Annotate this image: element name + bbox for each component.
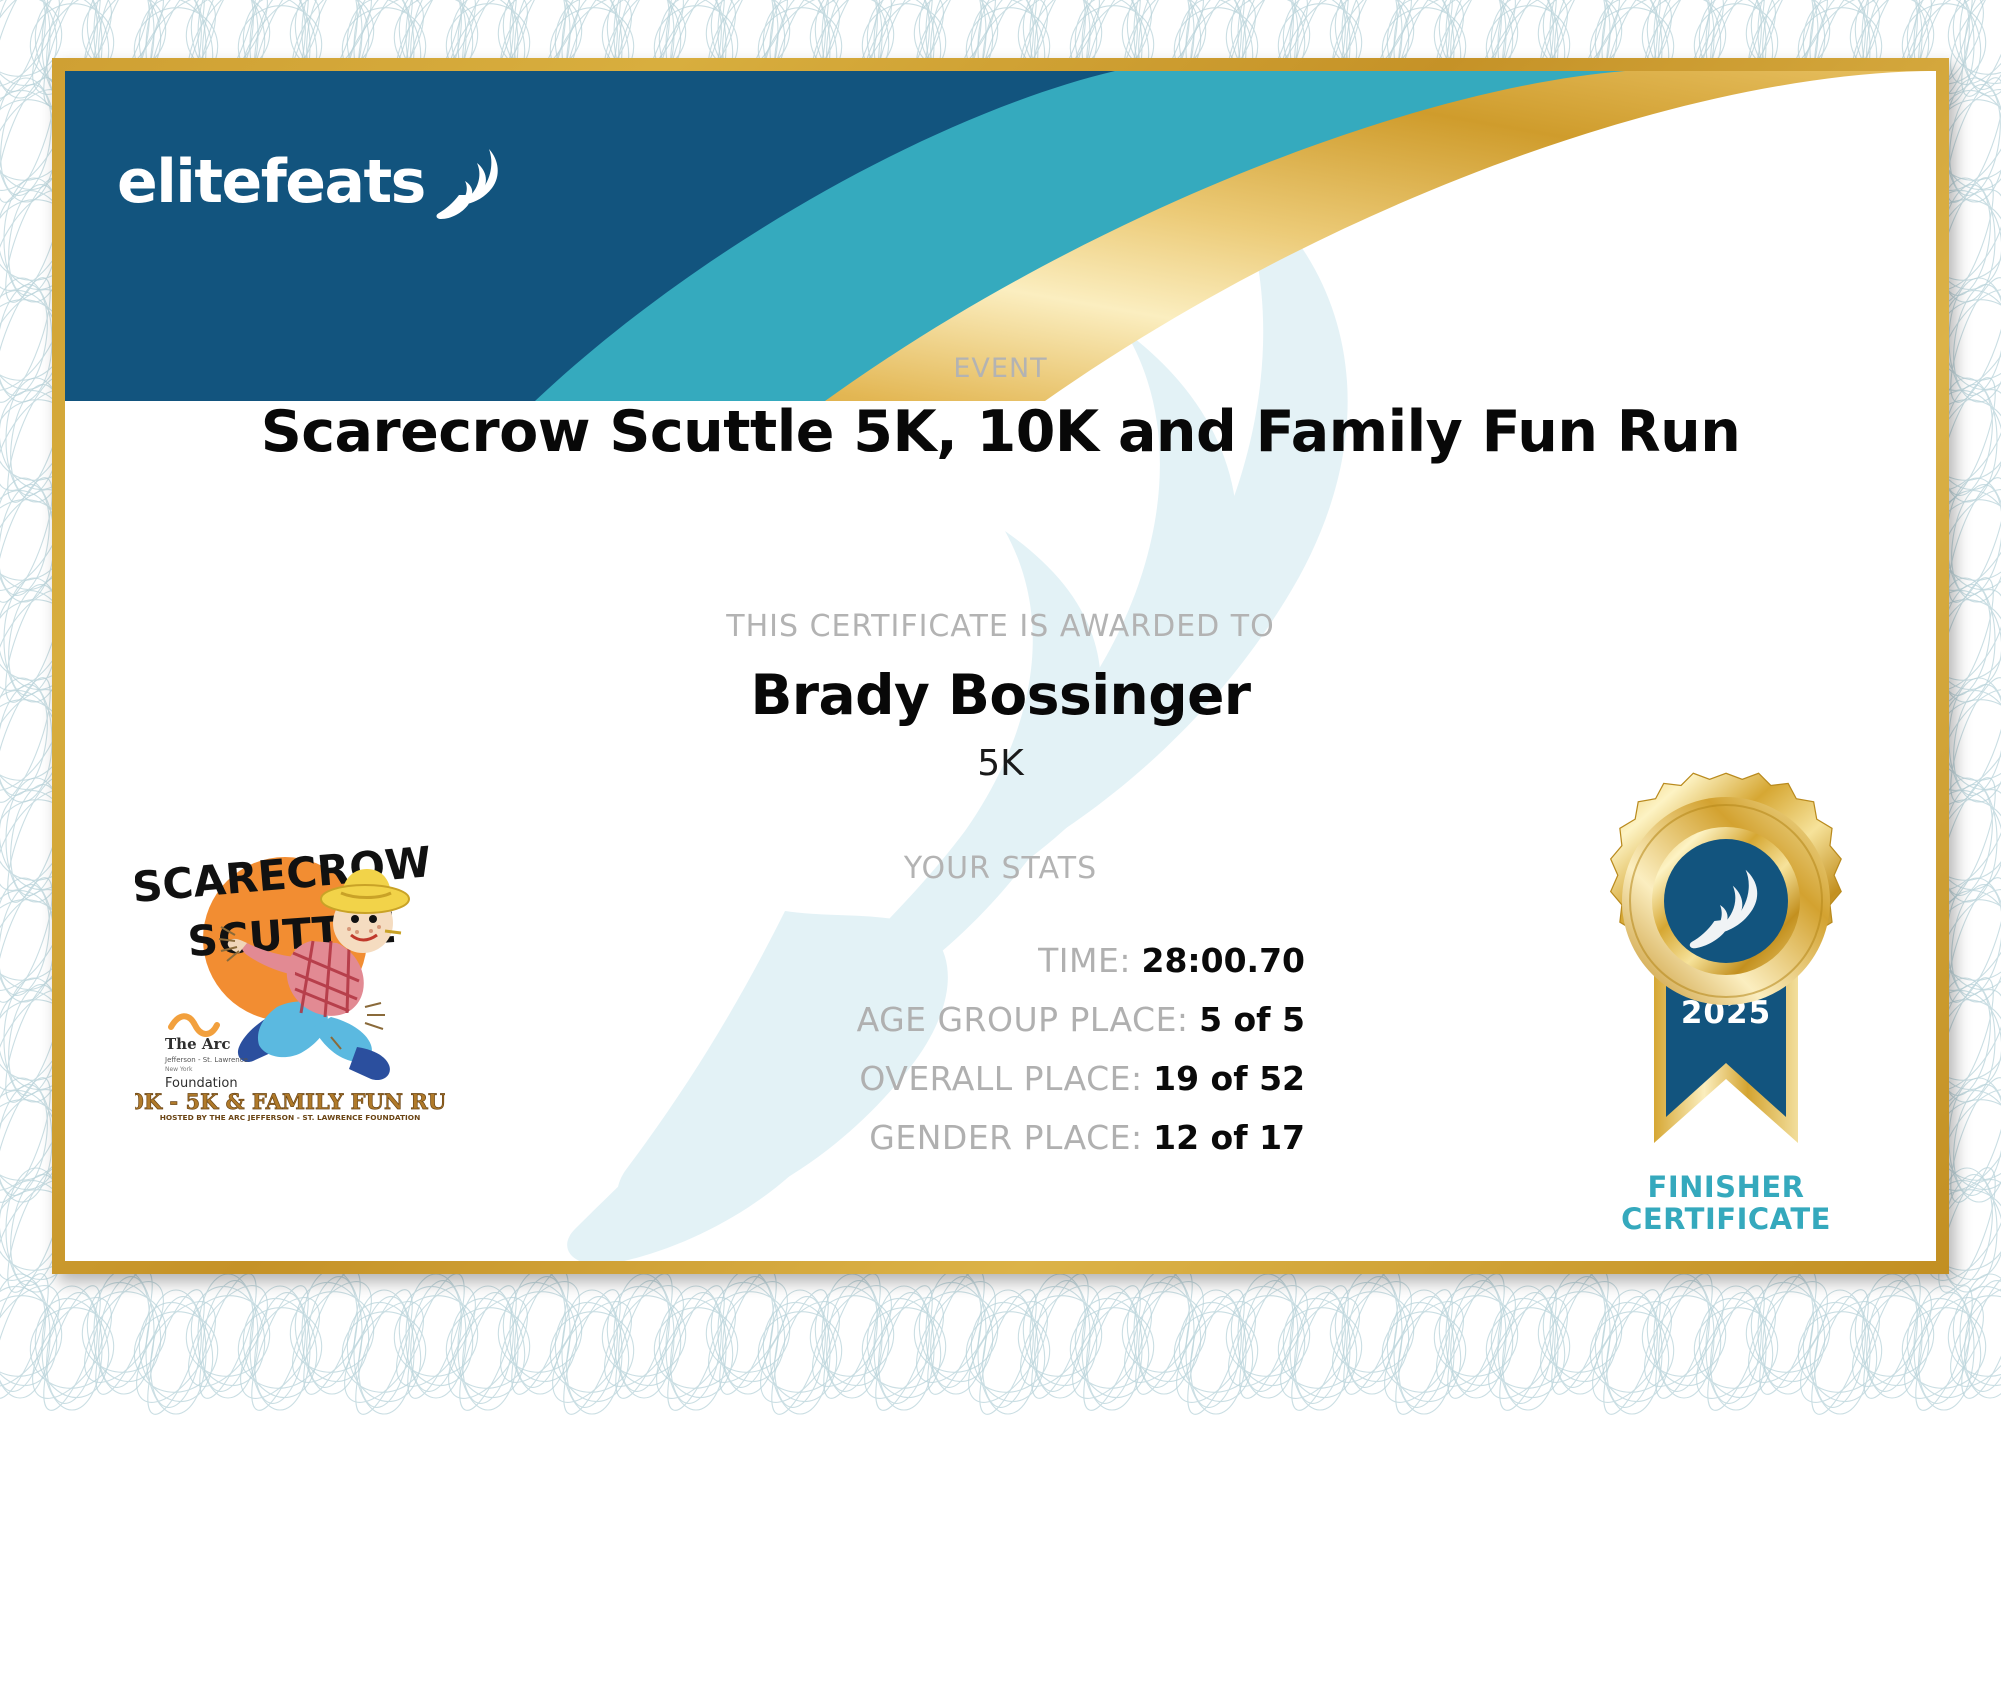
the-arc-sponsor-logo: The Arc Jefferson - St. Lawrence New Yor… bbox=[164, 1016, 248, 1091]
sponsor-state: New York bbox=[165, 1066, 193, 1073]
stat-value: 12 of 17 bbox=[1153, 1118, 1305, 1157]
finisher-medal-badge: 2025 bbox=[1576, 761, 1876, 1181]
finisher-caption-line1: FINISHER bbox=[1576, 1171, 1876, 1203]
brand-wordmark: elitefeats bbox=[117, 152, 425, 212]
scarecrow-scuttle-event-logo: SCARECROW SCUTTLE bbox=[135, 831, 445, 1121]
event-logo-banner: 10K - 5K & FAMILY FUN RUN bbox=[135, 1089, 445, 1114]
stat-value: 19 of 52 bbox=[1153, 1059, 1305, 1098]
certificate-page: elitefeats EVENT Scarecrow Scuttle 5K, 1… bbox=[0, 0, 2001, 1700]
stat-row-gender-place: GENDER PLACE: 12 of 17 bbox=[65, 1118, 1305, 1157]
finisher-caption-line2: CERTIFICATE bbox=[1576, 1203, 1876, 1235]
event-logo-hosted-by: HOSTED BY THE ARC JEFFERSON - ST. LAWREN… bbox=[160, 1113, 421, 1121]
sponsor-region: Jefferson - St. Lawrence bbox=[164, 1056, 248, 1064]
stat-key: TIME: bbox=[1038, 941, 1131, 980]
winged-foot-icon bbox=[431, 143, 509, 221]
awarded-to-label: THIS CERTIFICATE IS AWARDED TO bbox=[65, 609, 1936, 644]
recipient-name: Brady Bossinger bbox=[65, 663, 1936, 727]
stat-key: OVERALL PLACE: bbox=[859, 1059, 1142, 1098]
stat-value: 5 of 5 bbox=[1199, 1000, 1305, 1039]
event-title: Scarecrow Scuttle 5K, 10K and Family Fun… bbox=[65, 399, 1936, 465]
certificate-content: EVENT Scarecrow Scuttle 5K, 10K and Fami… bbox=[65, 71, 1936, 1261]
stat-key: AGE GROUP PLACE: bbox=[857, 1000, 1189, 1039]
certificate-body: elitefeats EVENT Scarecrow Scuttle 5K, 1… bbox=[65, 71, 1936, 1261]
stat-value: 28:00.70 bbox=[1141, 941, 1305, 980]
sponsor-name: The Arc bbox=[165, 1035, 231, 1053]
finisher-certificate-caption: FINISHER CERTIFICATE bbox=[1576, 1171, 1876, 1236]
stat-key: GENDER PLACE: bbox=[869, 1118, 1142, 1157]
elitefeats-logo: elitefeats bbox=[117, 143, 509, 221]
certificate-gold-frame: elitefeats EVENT Scarecrow Scuttle 5K, 1… bbox=[52, 58, 1949, 1274]
event-label: EVENT bbox=[65, 353, 1936, 384]
